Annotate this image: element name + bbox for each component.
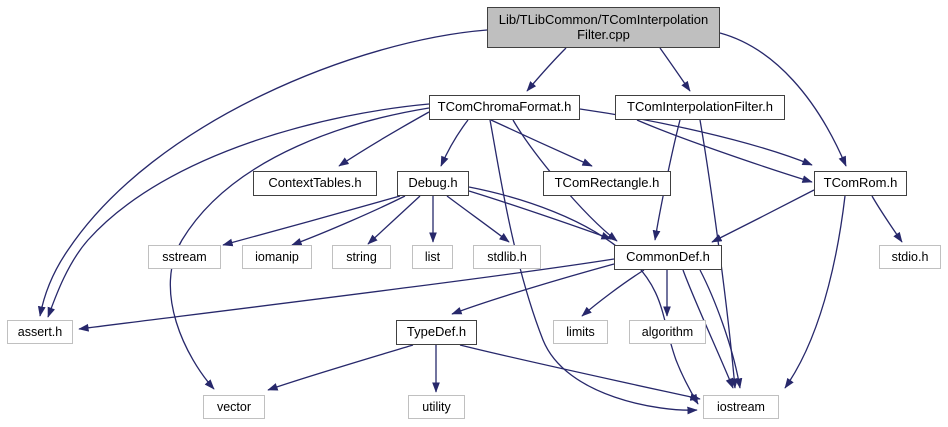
graph-node-stdio[interactable]: stdio.h: [879, 245, 941, 269]
graph-node-interp[interactable]: TComInterpolationFilter.h: [615, 95, 785, 120]
graph-node-utility[interactable]: utility: [408, 395, 465, 419]
edge-chroma-to-debug: [441, 120, 468, 166]
graph-node-chroma[interactable]: TComChromaFormat.h: [429, 95, 580, 120]
edge-root-to-interp: [660, 48, 690, 91]
edge-chroma-to-assert: [48, 104, 429, 317]
edge-debug-to-stdlib: [447, 196, 509, 242]
graph-node-stdlib[interactable]: stdlib.h: [473, 245, 541, 269]
edge-chroma-to-context: [339, 112, 429, 166]
edge-commondef-to-limits: [582, 270, 644, 316]
edge-chroma-to-rect: [491, 120, 592, 166]
edge-typedef-to-vector: [268, 345, 413, 390]
edge-debug-to-iomanip: [292, 196, 405, 245]
edge-commondef-to-assert: [79, 259, 614, 329]
edge-debug-to-iostream: [469, 187, 698, 404]
graph-node-root: Lib/TLibCommon/TComInterpolation Filter.…: [487, 7, 720, 48]
edge-root-to-chroma: [527, 48, 566, 91]
include-dependency-graph: Lib/TLibCommon/TComInterpolation Filter.…: [0, 0, 948, 427]
graph-node-iomanip[interactable]: iomanip: [242, 245, 312, 269]
graph-node-rom[interactable]: TComRom.h: [814, 171, 907, 196]
graph-node-assert[interactable]: assert.h: [7, 320, 73, 344]
graph-node-rect[interactable]: TComRectangle.h: [543, 171, 671, 196]
graph-node-list[interactable]: list: [412, 245, 453, 269]
edge-layer: [0, 0, 948, 427]
edge-rom-to-commondef: [712, 190, 814, 242]
graph-node-algorithm[interactable]: algorithm: [629, 320, 706, 344]
edge-debug-to-commondef: [469, 191, 611, 239]
graph-node-context[interactable]: ContextTables.h: [253, 171, 377, 196]
graph-node-commondef[interactable]: CommonDef.h: [614, 245, 722, 270]
graph-node-debug[interactable]: Debug.h: [397, 171, 469, 196]
graph-node-string[interactable]: string: [332, 245, 391, 269]
edges: [40, 30, 902, 410]
graph-node-typedef[interactable]: TypeDef.h: [396, 320, 477, 345]
graph-node-sstream[interactable]: sstream: [148, 245, 221, 269]
graph-node-vector[interactable]: vector: [203, 395, 265, 419]
edge-commondef-to-typedef: [452, 264, 614, 314]
edge-rom-to-iostream: [785, 196, 845, 388]
graph-node-iostream[interactable]: iostream: [703, 395, 779, 419]
edge-typedef-to-iostream: [460, 345, 700, 399]
graph-node-limits[interactable]: limits: [553, 320, 608, 344]
edge-rom-to-stdio: [872, 196, 902, 242]
